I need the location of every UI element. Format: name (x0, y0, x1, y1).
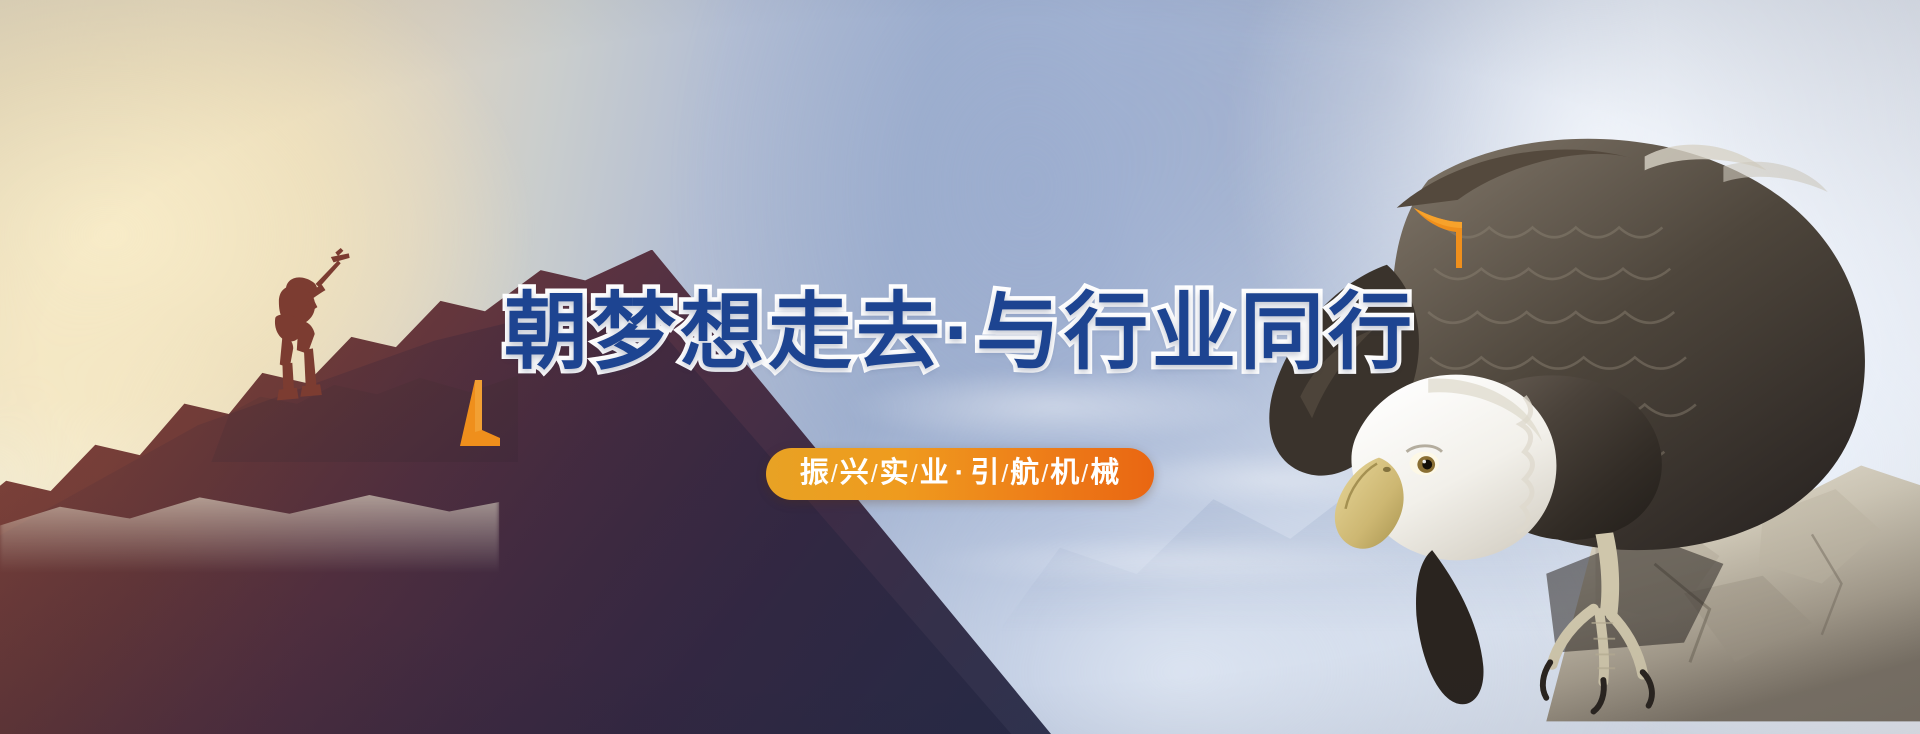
orange-corner-swoosh-icon (1412, 202, 1468, 268)
eagle-tail (1416, 550, 1483, 704)
headline-row: 朝梦想走去·与行业同行 (458, 232, 1462, 434)
hero-banner: 朝梦想走去·与行业同行 振/兴/实/业·引/航/机/械 (0, 0, 1920, 734)
subtitle-pill: 振/兴/实/业·引/航/机/械 (766, 448, 1155, 500)
banner-copy: 朝梦想走去·与行业同行 振/兴/实/业·引/航/机/械 (0, 232, 1920, 500)
page-title: 朝梦想走去·与行业同行 (504, 288, 1416, 377)
subtitle-text: 振/兴/实/业·引/航/机/械 (800, 459, 1121, 488)
orange-corner-bracket-icon (460, 380, 500, 446)
